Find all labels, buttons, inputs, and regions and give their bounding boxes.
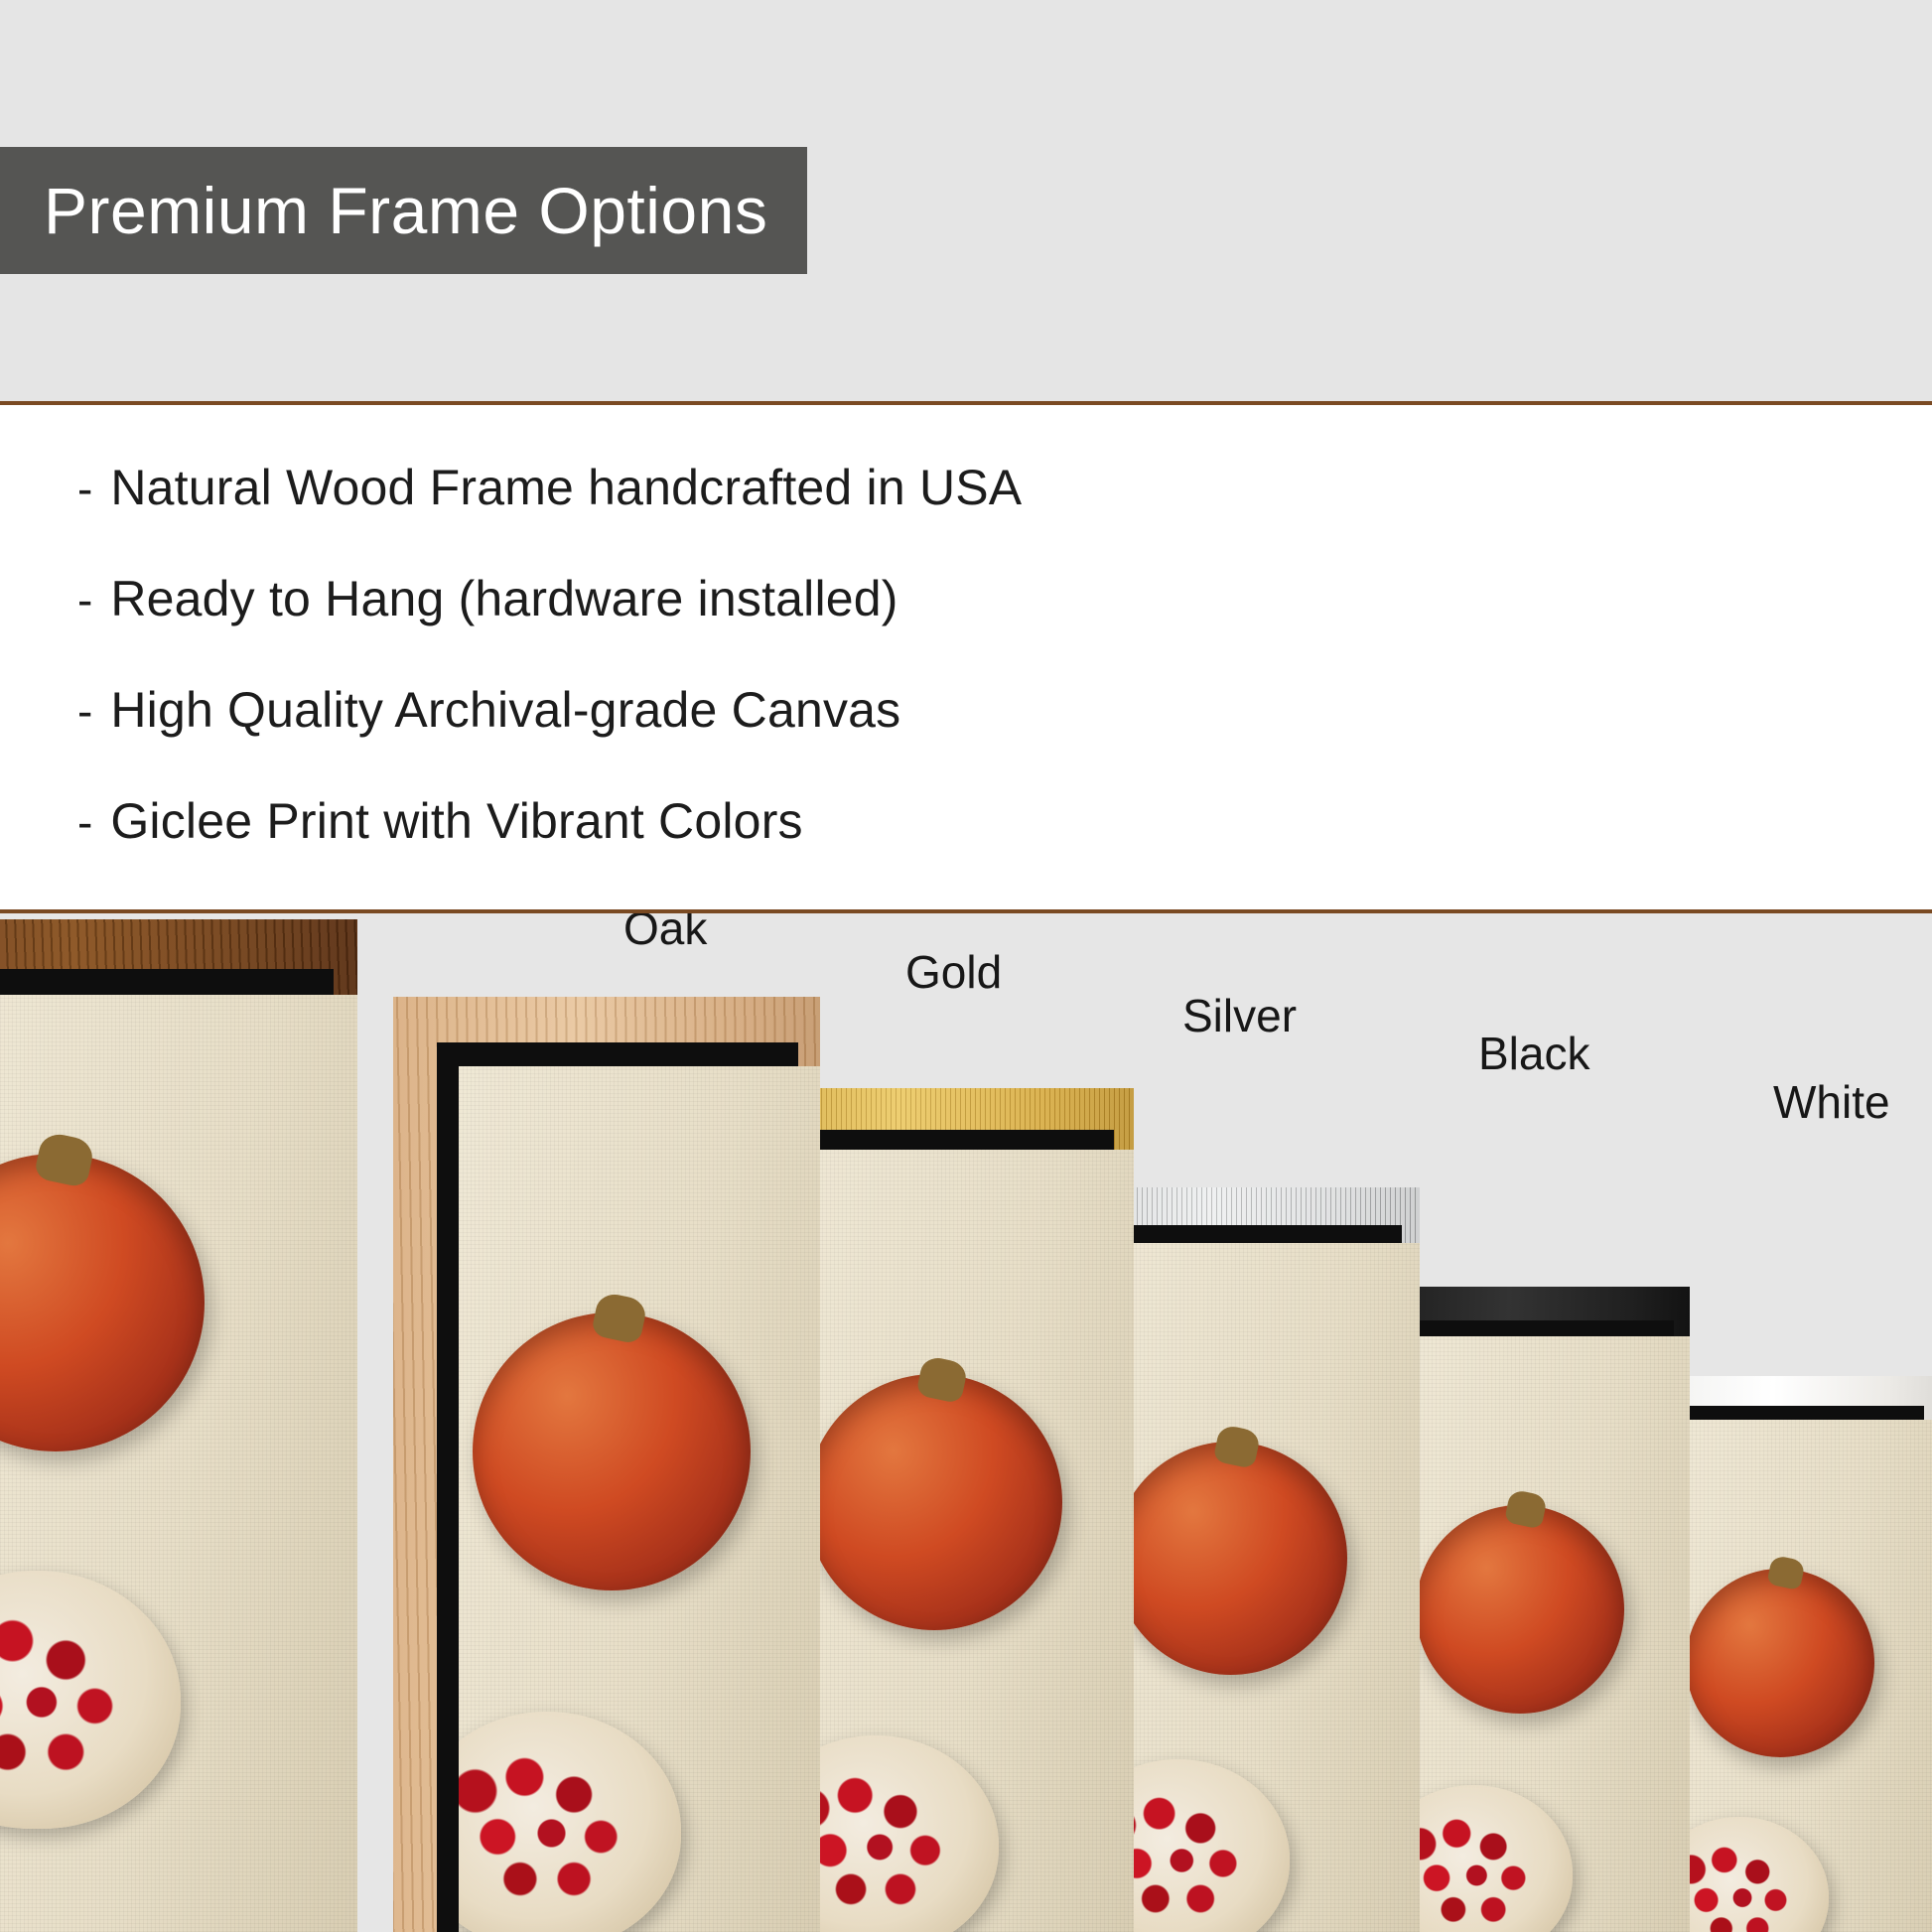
pomegranate-art — [1686, 1569, 1874, 1757]
features-panel: - Natural Wood Frame handcrafted in USA … — [0, 401, 1932, 913]
feature-item: - High Quality Archival-grade Canvas — [0, 685, 1932, 796]
frame-label-gold: Gold — [905, 949, 1002, 995]
frame-artwork-canvas — [794, 1150, 1134, 1932]
feature-text: Giclee Print with Vibrant Colors — [110, 796, 802, 846]
pomegranate-art — [0, 1154, 205, 1451]
pomegranate-cut-art — [1408, 1785, 1573, 1932]
frame-artwork-canvas — [1680, 1420, 1932, 1932]
pomegranate-cut-art — [794, 1735, 999, 1932]
frame-label-silver: Silver — [1182, 993, 1297, 1038]
pomegranate-art — [1114, 1442, 1347, 1675]
feature-item: - Giclee Print with Vibrant Colors — [0, 796, 1932, 907]
bullet-dash-icon: - — [77, 577, 92, 622]
feature-text: Natural Wood Frame handcrafted in USA — [110, 463, 1022, 512]
bullet-dash-icon: - — [77, 799, 92, 845]
pomegranate-cut-art — [0, 1571, 181, 1829]
frame-sample-oak[interactable] — [393, 997, 820, 1932]
feature-item: - Ready to Hang (hardware installed) — [0, 574, 1932, 685]
pomegranate-cut-art — [1680, 1817, 1829, 1932]
page-root: Premium Frame Options - Natural Wood Fra… — [0, 0, 1932, 1932]
page-title: Premium Frame Options — [44, 178, 767, 243]
pomegranate-art — [473, 1312, 751, 1590]
pomegranate-art — [1416, 1505, 1624, 1714]
bullet-dash-icon: - — [77, 466, 92, 511]
page-title-chip: Premium Frame Options — [0, 147, 807, 274]
feature-text: Ready to Hang (hardware installed) — [110, 574, 897, 623]
feature-text: High Quality Archival-grade Canvas — [110, 685, 900, 735]
header-band: Premium Frame Options — [0, 0, 1932, 401]
bullet-dash-icon: - — [77, 688, 92, 734]
frame-artwork-canvas — [1104, 1243, 1420, 1932]
pomegranate-cut-art — [459, 1712, 681, 1932]
pomegranate-art — [806, 1374, 1062, 1630]
frame-label-black: Black — [1478, 1031, 1589, 1076]
frame-label-white: White — [1773, 1079, 1890, 1125]
frame-label-oak: Oak — [623, 913, 707, 951]
frame-artwork-canvas — [459, 1066, 820, 1932]
feature-item: - Natural Wood Frame handcrafted in USA — [0, 463, 1932, 574]
frame-sample-walnut[interactable] — [0, 919, 357, 1932]
frame-artwork-canvas — [0, 995, 357, 1932]
frame-artwork-canvas — [1408, 1336, 1690, 1932]
frame-showcase: White Black Silver — [0, 913, 1932, 1932]
